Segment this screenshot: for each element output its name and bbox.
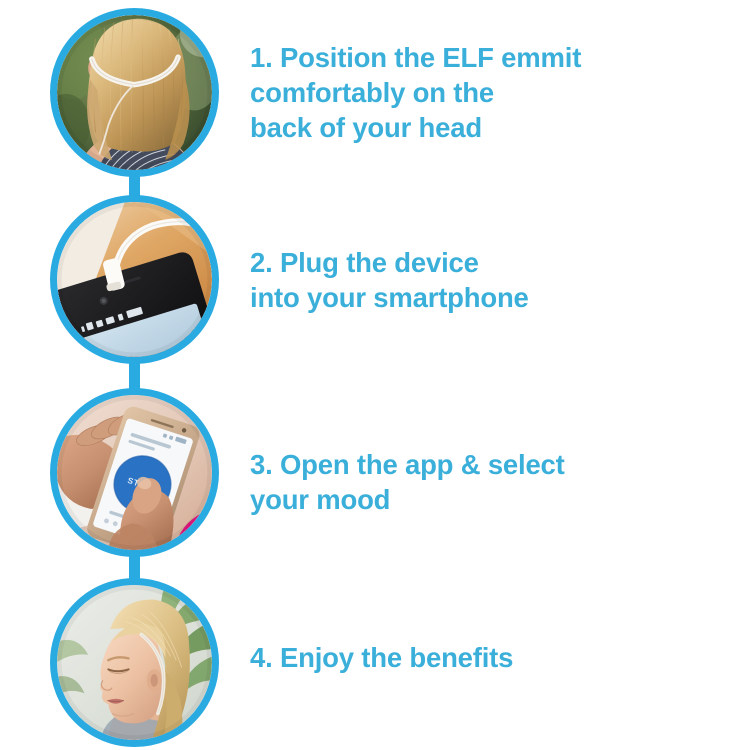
photo-cable-into-smartphone xyxy=(57,202,212,357)
step-4-text: 4. Enjoy the benefits xyxy=(250,640,513,675)
infographic-root: 1. Position the ELF emmit comfortably on… xyxy=(0,0,750,750)
step-1-text: 1. Position the ELF emmit comfortably on… xyxy=(250,40,581,145)
photo-hands-holding-phone-app: START xyxy=(57,395,212,550)
step-4-photo-circle xyxy=(50,578,219,747)
photo-woman-profile-relaxed xyxy=(57,585,212,740)
step-3-photo-circle: START xyxy=(50,388,219,557)
step-2-photo-circle xyxy=(50,195,219,364)
step-3-text: 3. Open the app & select your mood xyxy=(250,447,565,517)
photo-woman-back-of-head xyxy=(57,15,212,170)
step-1-photo-circle xyxy=(50,8,219,177)
step-2-text: 2. Plug the device into your smartphone xyxy=(250,245,529,315)
